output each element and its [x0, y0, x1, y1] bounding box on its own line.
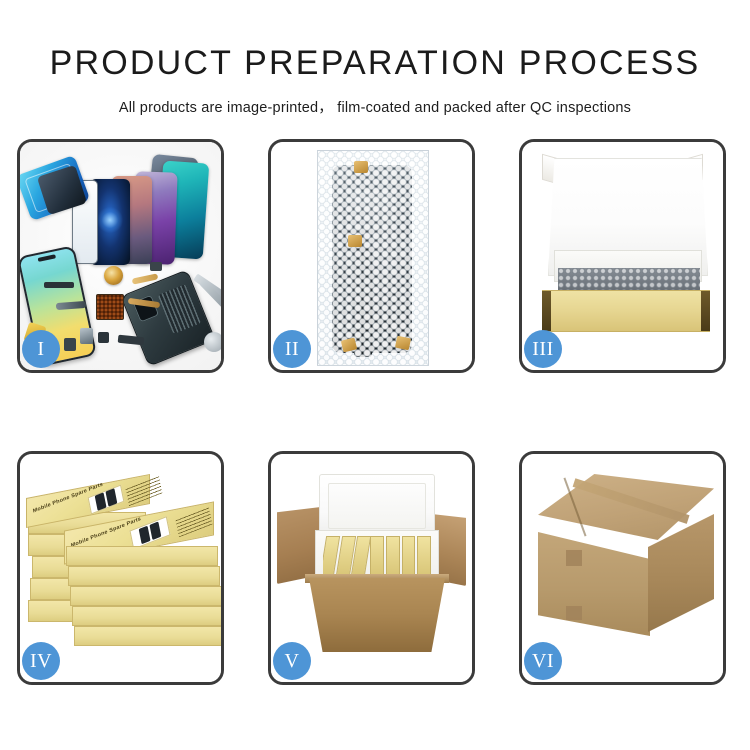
bubble-texture [318, 151, 428, 365]
spec-lines [176, 507, 213, 537]
box-slab [70, 586, 221, 606]
step-badge-3: III [524, 330, 562, 368]
screws-icon [204, 332, 221, 352]
bubble-wrap-bag [317, 150, 429, 366]
speaker-module-icon [44, 282, 74, 288]
yellow-box [402, 536, 416, 576]
step-badge-5: V [273, 642, 311, 680]
header: PRODUCT PREPARATION PROCESS All products… [0, 0, 750, 117]
small-component-icon [150, 262, 162, 271]
process-step-3: III [519, 139, 726, 373]
white-foam-lid [319, 474, 435, 538]
box-slab [74, 626, 221, 646]
process-step-5: V [268, 451, 475, 685]
carton-tab [566, 550, 582, 566]
product-preparation-infographic: PRODUCT PREPARATION PROCESS All products… [0, 0, 750, 750]
step-badge-4: IV [22, 642, 60, 680]
gold-contact-icon [348, 235, 362, 247]
step-badge-6: VI [524, 642, 562, 680]
stacked-yellow-boxes: Mobile Phone Spare Parts Mobile Phone Sp… [26, 480, 221, 660]
process-step-1: I [17, 139, 224, 373]
open-brown-carton [309, 578, 445, 652]
step-badge-1: I [22, 330, 60, 368]
yellow-box [417, 536, 431, 576]
process-step-4: Mobile Phone Spare Parts Mobile Phone Sp… [17, 451, 224, 685]
small-component-icon [64, 338, 76, 351]
page-title: PRODUCT PREPARATION PROCESS [0, 0, 750, 80]
phone-glyph [149, 521, 161, 540]
phone-glyph [105, 488, 117, 507]
yellow-boxes-inside [323, 536, 431, 576]
box-slab [72, 606, 221, 626]
step-badge-2: II [273, 330, 311, 368]
process-step-grid: I II [17, 139, 733, 685]
ic-chip-icon [96, 294, 124, 320]
process-step-6: VI [519, 451, 726, 685]
carton-tab [566, 606, 582, 620]
phone-glyph [139, 526, 151, 545]
yellow-box [386, 536, 400, 576]
yellow-kraft-box [542, 290, 710, 332]
yellow-box [370, 536, 384, 576]
copper-coil-icon [104, 266, 123, 285]
page-subtitle: All products are image-printed， film-coa… [0, 80, 750, 117]
small-component-icon [98, 332, 109, 343]
gold-contact-icon [395, 336, 411, 351]
camera-module-icon [80, 328, 93, 344]
process-step-2: II [268, 139, 475, 373]
spec-lines [126, 476, 163, 506]
carton-front-face [538, 532, 650, 636]
gold-contact-icon [354, 161, 368, 173]
phone-glyph [95, 492, 107, 511]
box-slab [66, 546, 218, 566]
box-slab [68, 566, 220, 586]
